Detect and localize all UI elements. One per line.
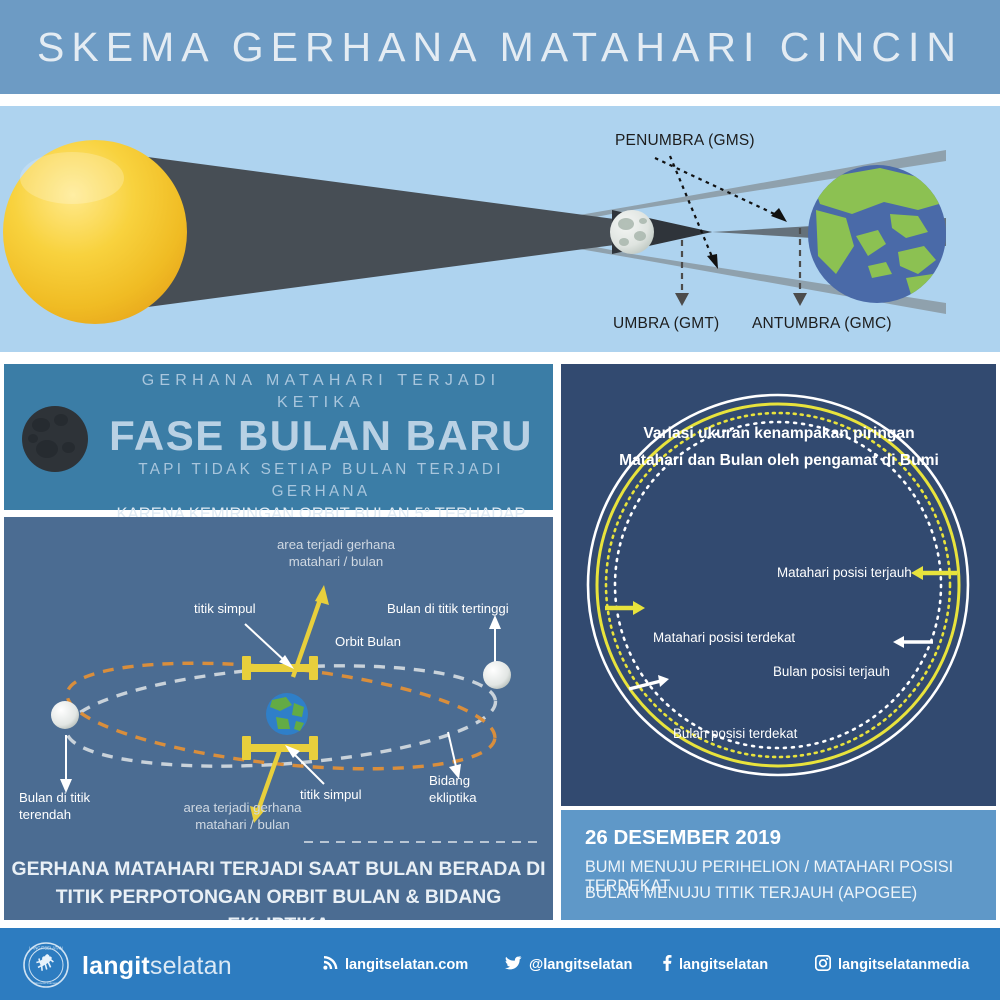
brand-wordmark: langitselatan [82, 952, 232, 981]
footer-link-instagram-label: langitselatanmedia [838, 957, 969, 973]
footer-link-website-label: langitselatan.com [345, 957, 468, 973]
svg-text:Astronomi Indonesia: Astronomi Indonesia [33, 981, 59, 985]
footer-bar: LANGITSELATAN Astronomi Indonesia langit… [0, 928, 1000, 1000]
arrowhead [793, 293, 807, 306]
moon-lowest-icon [51, 701, 79, 729]
label-sun-near: Matahari posisi terdekat [653, 630, 795, 645]
phase-line-3: TAPI TIDAK SETIAP BULAN TERJADI GERHANA [96, 459, 546, 503]
date-panel: 26 DESEMBER 2019 BUMI MENUJU PERIHELION … [561, 810, 996, 920]
label-moon-far: Bulan posisi terjauh [773, 664, 890, 679]
leader-node-top [245, 624, 287, 663]
penumbra-leader-lines [655, 156, 783, 264]
moon-icon [610, 210, 654, 254]
leader-ecliptic [448, 732, 457, 771]
label-node-top: titik simpul [194, 600, 256, 617]
phase-line-2: FASE BULAN BARU [96, 413, 546, 459]
footer-link-twitter[interactable]: @langitselatan [505, 955, 632, 973]
earth-small-icon [266, 693, 308, 735]
rss-icon [322, 955, 338, 971]
arrowhead [489, 615, 501, 629]
footer-link-twitter-label: @langitselatan [529, 957, 632, 973]
label-sun-far: Matahari posisi terjauh [777, 565, 912, 580]
arrowhead [771, 208, 787, 222]
moon-far-arrow [893, 636, 933, 648]
eclipse-geometry-scene: PENUMBRA (GMS) UMBRA (GMT) ANTUMBRA (GMC… [0, 106, 1000, 352]
svg-text:LANGITSELATAN: LANGITSELATAN [29, 946, 63, 951]
moon-highest-icon [483, 661, 511, 689]
footer-link-instagram[interactable]: langitselatanmedia [815, 955, 969, 973]
label-moon-orbit: Orbit Bulan [335, 633, 401, 650]
new-moon-icon [22, 406, 88, 472]
label-antumbra: ANTUMBRA (GMC) [752, 315, 892, 333]
date-title: 26 DESEMBER 2019 [585, 826, 781, 850]
earth-icon [808, 160, 956, 303]
orbit-nodes-panel: area terjadi gerhana matahari / bulan ti… [4, 517, 553, 920]
moon-near-arrow [629, 675, 669, 689]
facebook-icon [662, 955, 672, 971]
label-node-bottom: titik simpul [300, 786, 362, 803]
label-eclipse-area-bottom: area terjadi gerhana matahari / bulan [180, 799, 305, 833]
langitselatan-logo-icon: LANGITSELATAN Astronomi Indonesia [22, 941, 70, 989]
label-moon-highest: Bulan di titik tertinggi [387, 600, 509, 617]
footer-link-facebook-label: langitselatan [679, 957, 768, 973]
label-moon-near: Bulan posisi terdekat [673, 726, 797, 741]
instagram-icon [815, 955, 831, 971]
label-umbra: UMBRA (GMT) [613, 315, 719, 333]
label-moon-lowest: Bulan di titik terendah [19, 789, 129, 823]
label-penumbra: PENUMBRA (GMS) [615, 132, 755, 150]
sun-highlight [20, 152, 124, 204]
sun-near-arrow [605, 601, 645, 615]
arrowhead [675, 293, 689, 306]
rings-title: Variasi ukuran kenampakan piringan Matah… [619, 420, 939, 474]
infographic-page: SKEMA GERHANA MATAHARI CINCIN [0, 0, 1000, 1000]
brand-bold: langit [82, 952, 150, 980]
brand-light: selatan [150, 952, 232, 980]
apparent-size-panel: Variasi ukuran kenampakan piringan Matah… [561, 364, 996, 806]
footer-link-website[interactable]: langitselatan.com [322, 955, 468, 973]
twitter-icon [505, 955, 522, 971]
node-marker-top [242, 656, 318, 680]
date-line-2: BULAN MENUJU TITIK TERJAUH (APOGEE) [585, 884, 917, 903]
page-title: SKEMA GERHANA MATAHARI CINCIN [0, 24, 1000, 71]
label-ecliptic-plane: Bidang ekliptika [429, 772, 509, 806]
footer-link-facebook[interactable]: langitselatan [662, 955, 768, 973]
header-bar: SKEMA GERHANA MATAHARI CINCIN [0, 0, 1000, 94]
orbit-caption: GERHANA MATAHARI TERJADI SAAT BULAN BERA… [4, 855, 553, 920]
label-eclipse-area-top: area terjadi gerhana matahari / bulan [261, 536, 411, 570]
node-marker-bottom [242, 736, 318, 760]
phase-line-1: GERHANA MATAHARI TERJADI KETIKA [96, 370, 546, 414]
